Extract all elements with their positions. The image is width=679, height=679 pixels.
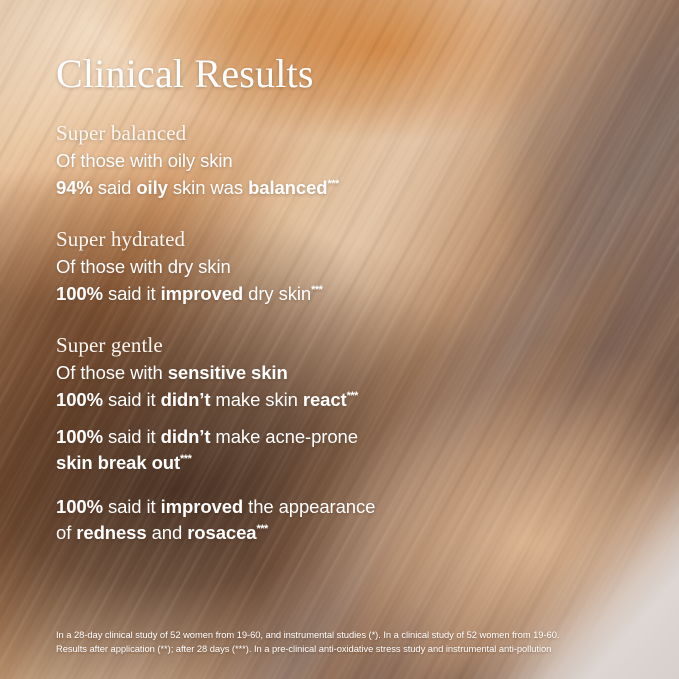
emphasis-text: didn’t [161,426,211,447]
emphasis-text: improved [161,496,243,517]
emphasis-text: redness [76,522,146,543]
content-overlay: Clinical Results Super balancedOf those … [0,0,679,679]
results-block: 100% said it improved the appearanceof r… [56,494,375,547]
emphasis-text: 94% [56,177,93,198]
emphasis-text: 100% [56,283,103,304]
clinical-results-graphic: Clinical Results Super balancedOf those … [0,0,679,679]
body-text: make acne-prone [210,426,358,447]
result-line: of redness and rosacea*** [56,520,375,546]
body-text: said it [103,283,161,304]
body-text: Of those with oily skin [56,150,233,171]
emphasis-text: 100% [56,496,103,517]
body-text: dry skin [243,283,311,304]
block-heading: Super hydrated [56,226,322,252]
emphasis-text: didn’t [161,389,211,410]
emphasis-text: oily [136,177,167,198]
result-line: 100% said it improved dry skin*** [56,281,322,307]
emphasis-text: 100% [56,426,103,447]
block-heading: Super balanced [56,120,339,146]
body-text: skin was [168,177,248,198]
results-block: 100% said it didn’t make acne-proneskin … [56,424,358,477]
emphasis-text: 100% [56,389,103,410]
body-text: Of those with [56,362,168,383]
body-text: Of those with dry skin [56,256,231,277]
footnote-line-2: Results after application (**); after 28… [56,642,641,656]
emphasis-text: rosacea [187,522,256,543]
footnote: In a 28-day clinical study of 52 women f… [56,628,641,656]
footnote-marker: *** [311,283,322,295]
emphasis-text: balanced [248,177,327,198]
block-heading: Super gentle [56,332,358,358]
result-line: skin break out*** [56,450,358,476]
body-text: of [56,522,76,543]
footnote-marker: *** [180,453,191,465]
result-line: 100% said it didn’t make skin react*** [56,387,358,413]
body-text: said [93,177,137,198]
results-block: Super hydratedOf those with dry skin100%… [56,226,322,307]
emphasis-text: skin break out [56,452,180,473]
body-text: make skin [210,389,302,410]
emphasis-text: sensitive skin [168,362,288,383]
results-block: Super balancedOf those with oily skin94%… [56,120,339,201]
body-text: said it [103,389,161,410]
emphasis-text: improved [161,283,243,304]
emphasis-text: react [303,389,347,410]
footnote-marker: *** [347,389,358,401]
result-line: 100% said it improved the appearance [56,494,375,520]
result-line: Of those with oily skin [56,148,339,174]
body-text: and [147,522,188,543]
footnote-marker: *** [327,177,338,189]
results-block: Super gentleOf those with sensitive skin… [56,332,358,413]
result-line: 100% said it didn’t make acne-prone [56,424,358,450]
result-line: 94% said oily skin was balanced*** [56,175,339,201]
footnote-line-1: In a 28-day clinical study of 52 women f… [56,628,641,642]
result-line: Of those with dry skin [56,254,322,280]
body-text: the appearance [243,496,375,517]
page-title: Clinical Results [56,53,314,95]
body-text: said it [103,426,161,447]
body-text: said it [103,496,161,517]
footnote-marker: *** [256,523,267,535]
result-line: Of those with sensitive skin [56,360,358,386]
